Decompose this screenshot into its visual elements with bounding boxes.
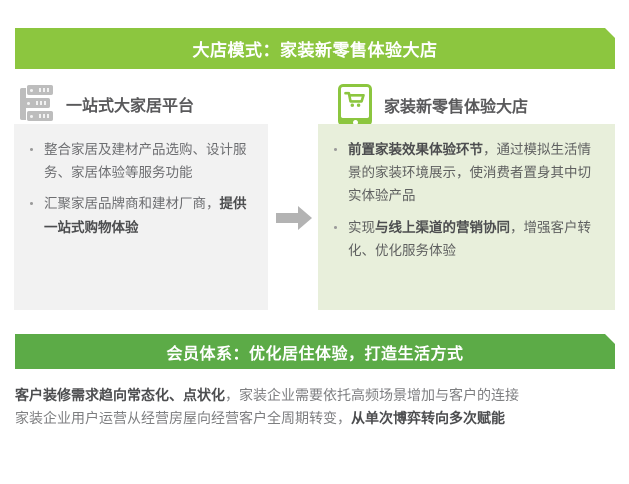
bottom-text-line-1: 客户装修需求趋向常态化、点状化，家装企业需要依托高频场景增加与客户的连接	[15, 384, 619, 407]
top-section-title-bar: 大店模式：家装新零售体验大店	[15, 28, 615, 69]
list-item: 前置家装效果体验环节，通过模拟生活情景的家装环境展示，使消费者置身其中切实体验产…	[328, 138, 601, 208]
bullet-text: 实现	[348, 220, 375, 235]
bullet-text-emphasis: 前置家装效果体验环节	[348, 142, 483, 157]
bottom-section-title-bar: 会员体系：优化居住体验，打造生活方式	[15, 334, 615, 369]
bottom-text-plain: 家装企业用户运营从经营房屋向经营客户全周期转变，	[15, 410, 351, 426]
left-bullet-list: 整合家居及建材产品选购、设计服务、家居体验等服务功能 汇聚家居品牌商和建材厂商，…	[24, 138, 254, 239]
bottom-text-line-2: 家装企业用户运营从经营房屋向经营客户全周期转变，从单次博弈转向多次赋能	[15, 407, 619, 430]
bottom-text-emphasis: 从单次博弈转向多次赋能	[351, 410, 505, 426]
top-section-title: 大店模式：家装新零售体验大店	[193, 36, 438, 61]
bullet-text: 汇聚家居品牌商和建材厂商，	[44, 196, 220, 211]
right-arrow-icon	[274, 203, 314, 233]
right-column-title: 家装新零售体验大店	[384, 93, 528, 117]
two-column-content: 一站式大家居平台 家装新零售体验大店 整合家居及建材产品选购、设计服务、家居体验…	[0, 78, 629, 310]
bottom-summary-text: 客户装修需求趋向常态化、点状化，家装企业需要依托高频场景增加与客户的连接 家装企…	[15, 384, 619, 429]
list-item: 汇聚家居品牌商和建材厂商，提供一站式购物体验	[24, 192, 254, 238]
right-content-panel: 前置家装效果体验环节，通过模拟生活情景的家装环境展示，使消费者置身其中切实体验产…	[318, 124, 615, 310]
left-column-title: 一站式大家居平台	[66, 92, 194, 116]
tablet-shopping-cart-icon	[338, 84, 372, 126]
left-content-panel: 整合家居及建材产品选购、设计服务、家居体验等服务功能 汇聚家居品牌商和建材厂商，…	[14, 124, 268, 310]
bullet-text-emphasis: 与线上渠道的营销协同	[375, 220, 510, 235]
bullet-text: 整合家居及建材产品选购、设计服务、家居体验等服务功能	[44, 142, 247, 180]
right-column-header: 家装新零售体验大店	[338, 84, 528, 126]
list-item: 实现与线上渠道的营销协同，增强客户转化、优化服务体验	[328, 216, 601, 262]
slide-canvas: 大店模式：家装新零售体验大店 一站式大家居平台	[0, 0, 629, 484]
right-bullet-list: 前置家装效果体验环节，通过模拟生活情景的家装环境展示，使消费者置身其中切实体验产…	[328, 138, 601, 262]
list-item: 整合家居及建材产品选购、设计服务、家居体验等服务功能	[24, 138, 254, 184]
server-rack-icon	[20, 84, 54, 124]
left-column-header: 一站式大家居平台	[20, 84, 194, 124]
bottom-text-emphasis: 客户装修需求趋向常态化、点状化	[15, 387, 225, 403]
bottom-text-plain: ，家装企业需要依托高频场景增加与客户的连接	[225, 387, 519, 403]
bottom-section-title: 会员体系：优化居住体验，打造生活方式	[166, 340, 463, 364]
